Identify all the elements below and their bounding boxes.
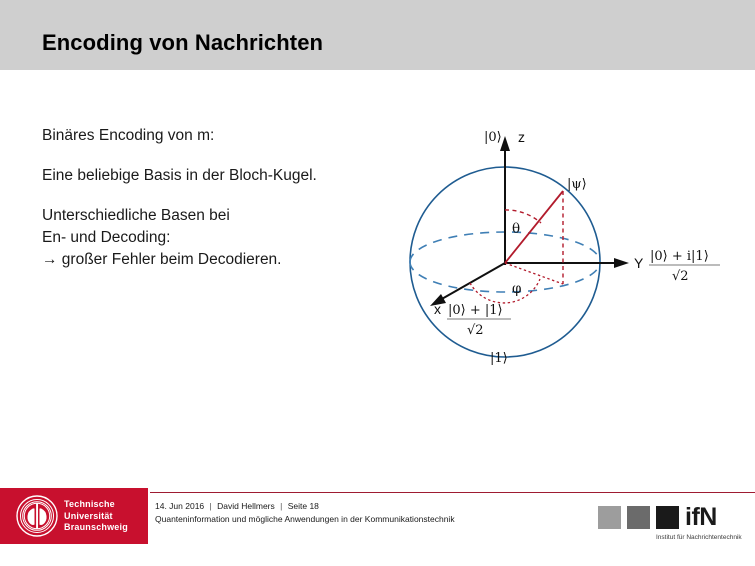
tu-wordmark: Technische Universität Braunschweig [64,499,128,534]
footer-meta-line-2: Quanteninformation und mögliche Anwendun… [155,513,455,526]
equator-back-arc [410,262,600,292]
tu-wordmark-line-2: Universität [64,511,128,523]
footer-author: David Hellmers [217,501,275,511]
slide-canvas: Encoding von Nachrichten Binäres Encodin… [0,0,755,566]
ifn-square-light [598,506,621,529]
ifn-logo-marks: ifN [598,506,717,529]
theta-label: θ [512,221,520,237]
ifn-wordmark: ifN [685,506,717,529]
body-line-3c: → großer Fehler beim Decodieren. [42,249,392,271]
body-paragraph-3: Unterschiedliche Basen bei En- und Decod… [42,205,392,271]
footer-separator-1: | [207,501,215,511]
x-axis-label: x [434,301,441,317]
x-state-denominator: √2 [467,323,484,338]
body-paragraph-1: Binäres Encoding von m: [42,125,392,147]
slide-body: Binäres Encoding von m: Eine beliebige B… [42,125,392,271]
ifn-square-dark [656,506,679,529]
theta-arc [505,210,541,223]
footer-date: 14. Jun 2016 [155,501,204,511]
x-state-numerator: |0⟩ + |1⟩ [448,303,503,318]
footer-page-number: Seite 18 [288,501,319,511]
y-state-fraction: |0⟩ + i|1⟩ √2 [649,249,720,284]
tu-wordmark-line-1: Technische [64,499,128,511]
y-state-numerator: |0⟩ + i|1⟩ [650,249,709,264]
tu-seal-icon [16,495,58,537]
state-vector-label: |ψ⟩ [567,177,587,192]
footer-separator-2: | [277,501,285,511]
y-state-denominator: √2 [672,269,689,284]
footer-meta: 14. Jun 2016 | David Hellmers | Seite 18… [155,500,455,525]
body-line-3a: Unterschiedliche Basen bei [42,205,392,227]
tu-wordmark-line-3: Braunschweig [64,522,128,534]
page-title: Encoding von Nachrichten [42,30,323,56]
ifn-subtitle: Institut für Nachrichtentechnik [656,534,742,541]
x-axis-line [440,263,505,300]
y-axis-arrowhead [614,258,629,268]
footer-meta-line-1: 14. Jun 2016 | David Hellmers | Seite 18 [155,500,455,513]
phi-label: φ [512,281,521,297]
north-pole-label: |0⟩ [484,130,502,145]
ifn-square-mid [627,506,650,529]
footer-divider [150,492,755,493]
south-pole-label: |1⟩ [490,351,508,366]
z-axis-label: z [518,129,525,145]
bloch-sphere-figure: |0⟩ z |1⟩ Y x |ψ⟩ θ φ |0⟩ + |1⟩ √2 |0⟩ +… [408,118,748,403]
body-line-3b: En- und Decoding: [42,227,392,249]
ifn-logo: ifN Institut für Nachrichtentechnik [598,506,748,546]
y-axis-label: Y [634,255,644,271]
x-state-fraction: |0⟩ + |1⟩ √2 [447,303,511,338]
body-paragraph-2: Eine beliebige Basis in der Bloch-Kugel. [42,165,392,187]
tu-braunschweig-logo: Technische Universität Braunschweig [0,488,148,544]
